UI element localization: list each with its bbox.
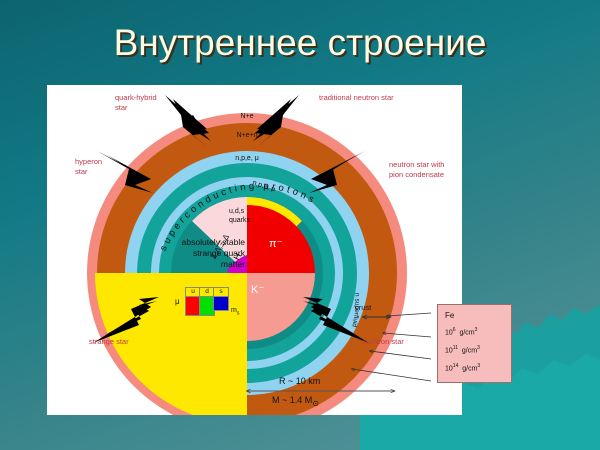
density-box: Fe 106 g/cm3 1011 g/cm3 1014 g/cm3: [437, 304, 512, 383]
diagram-panel: superconducting protons n superfluid Σ,Λ…: [47, 85, 462, 415]
callout-traditional-neutron-star: traditional neutron star: [319, 93, 394, 103]
wedge-label-uds: u,d,s quarks: [229, 207, 250, 225]
radius-label: R ~ 10 km: [279, 376, 320, 386]
mass-label: M ~ 1.4 M⊙: [272, 395, 319, 408]
quark-ms-label: ms: [231, 307, 239, 316]
layer-label-Nen: N+e+n: [211, 132, 283, 139]
crust-label: crust: [355, 303, 371, 312]
density-box-title: Fe: [445, 311, 454, 320]
quark-bar-s: [213, 296, 229, 311]
quark-mass-diagram: μ u d s ms: [175, 285, 247, 323]
density-row-3: 1014 g/cm3: [445, 363, 480, 372]
callout-neutron-star-pion-condensate: neutron star withpion condensate: [389, 160, 444, 179]
layer-label-Ne: N+e: [215, 113, 279, 120]
callout-nucleon-star: nucleon star: [363, 337, 404, 347]
wedge-label-pion: π⁻: [269, 237, 282, 250]
callout-hyperon-star: hyperonstar: [75, 157, 102, 176]
callout-quark-hybrid-star: quark-hybridstar: [115, 93, 157, 112]
density-row-1: 106 g/cm3: [445, 327, 477, 336]
layer-label-npemu: n,p,e, μ: [207, 155, 287, 162]
callout-strange-star: strange star: [89, 337, 129, 347]
quark-mu-label: μ: [175, 297, 180, 306]
density-row-2: 1011 g/cm3: [445, 345, 480, 354]
slide-title: Внутреннее строение: [0, 22, 600, 64]
wedge-label-kaon: K⁻: [251, 283, 264, 296]
strange-quark-matter-label: absolutely stable strange quark matter: [125, 237, 245, 270]
